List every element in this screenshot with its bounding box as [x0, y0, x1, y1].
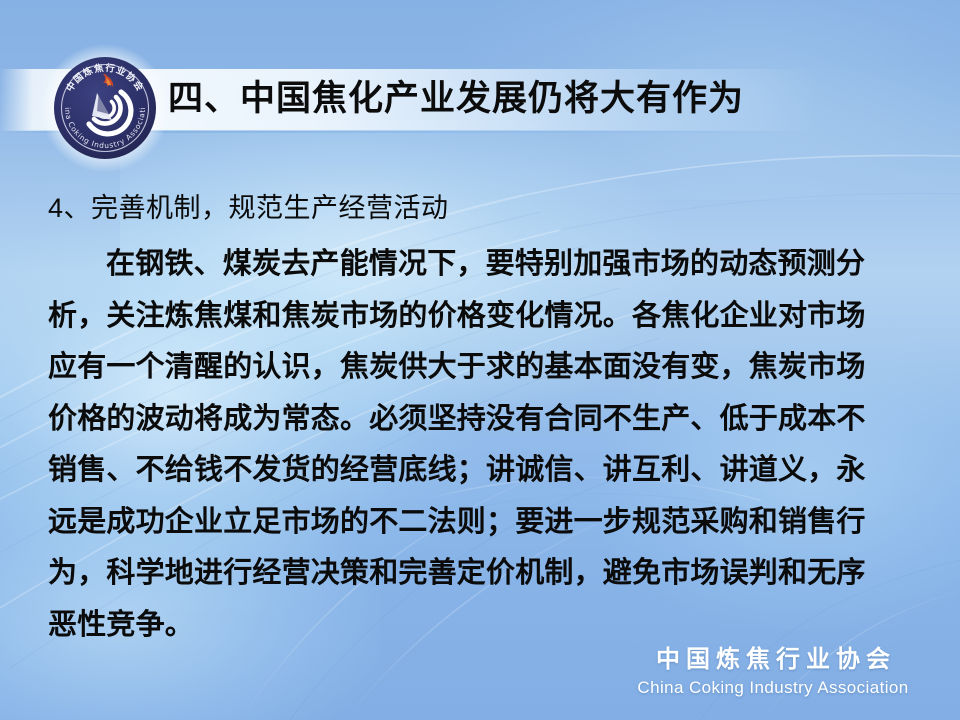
paragraph-line: 销售、不给钱不发货的经营底线；讲诚信、讲互利、讲道义，永 [48, 445, 928, 497]
logo-emblem-icon: 中国炼焦行业协会 China Coking Industry Associati… [53, 56, 157, 160]
section-heading: 4、完善机制，规范生产经营活动 [48, 185, 928, 231]
slide-canvas: 中国炼焦行业协会 China Coking Industry Associati… [0, 0, 960, 720]
paragraph-line: 远是成功企业立足市场的不二法则；要进一步规范采购和销售行 [48, 497, 928, 549]
footer-watermark: 中国炼焦行业协会 China Coking Industry Associati… [608, 645, 938, 700]
body-paragraph: 在钢铁、煤炭去产能情况下，要特别加强市场的动态预测分 析，关注炼焦煤和焦炭市场的… [48, 239, 928, 651]
paragraph-line: 价格的波动将成为常态。必须坚持没有合同不生产、低于成本不 [48, 394, 928, 446]
paragraph-line: 在钢铁、煤炭去产能情况下，要特别加强市场的动态预测分 [48, 239, 928, 291]
footer-association-name-cn: 中国炼焦行业协会 [608, 645, 938, 675]
slide-body: 4、完善机制，规范生产经营活动 在钢铁、煤炭去产能情况下，要特别加强市场的动态预… [48, 185, 928, 651]
paragraph-line: 为，科学地进行经营决策和完善定价机制，避免市场误判和无序 [48, 548, 928, 600]
footer-association-name-en: China Coking Industry Association [608, 676, 938, 700]
paragraph-line: 析，关注炼焦煤和焦炭市场的价格变化情况。各焦化企业对市场 [48, 291, 928, 343]
association-logo: 中国炼焦行业协会 China Coking Industry Associati… [53, 56, 157, 160]
paragraph-line: 恶性竞争。 [48, 600, 928, 652]
paragraph-line: 应有一个清醒的认识，焦炭供大于求的基本面没有变，焦炭市场 [48, 342, 928, 394]
page-title: 四、中国焦化产业发展仍将大有作为 [168, 74, 744, 124]
